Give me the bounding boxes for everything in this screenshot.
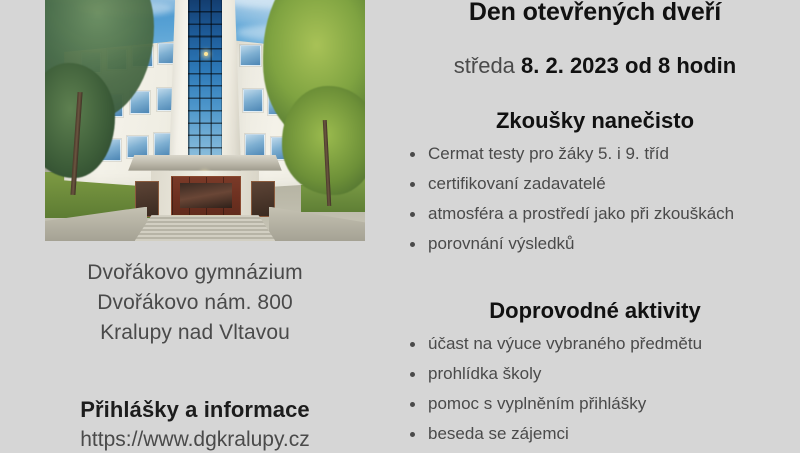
list-item: prohlídka školy (400, 363, 800, 385)
school-address: Dvořákovo gymnázium Dvořákovo nám. 800 K… (0, 258, 390, 347)
event-date-time: 8. 2. 2023 od 8 hodin (521, 53, 736, 78)
school-website-url[interactable]: https://www.dgkralupy.cz (0, 428, 390, 452)
event-datetime: středa 8. 2. 2023 od 8 hodin (390, 53, 800, 79)
mock-exams-list: Cermat testy pro žáky 5. i 9. tříd certi… (390, 143, 800, 263)
right-column: Den otevřených dveří středa 8. 2. 2023 o… (390, 0, 800, 450)
list-item: účast na výuce vybraného předmětu (400, 333, 800, 355)
address-line-city: Kralupy nad Vltavou (0, 318, 390, 348)
window (240, 45, 260, 66)
list-item: Cermat testy pro žáky 5. i 9. tříd (400, 143, 800, 165)
photo-canvas (45, 0, 365, 241)
list-item: beseda se zájemci (400, 423, 800, 445)
list-item: pomoc s vyplněním přihlášky (400, 393, 800, 415)
section-heading-activities: Doprovodné aktivity (390, 298, 800, 324)
tower-glass-curtain-wall (188, 0, 222, 161)
tower-lamp (204, 52, 208, 56)
left-column: Dvořákovo gymnázium Dvořákovo nám. 800 K… (0, 0, 390, 450)
entrance-canopy (128, 155, 282, 171)
page-title: Den otevřených dveří (390, 0, 800, 27)
entrance-steps (135, 215, 276, 241)
door-glass (180, 183, 231, 207)
address-line-school: Dvořákovo gymnázium (0, 258, 390, 288)
event-weekday: středa (454, 53, 521, 78)
address-line-street: Dvořákovo nám. 800 (0, 288, 390, 318)
window (243, 89, 263, 112)
window (245, 134, 265, 157)
applications-heading: Přihlášky a informace (0, 397, 390, 423)
section-heading-mock-exams: Zkoušky nanečisto (390, 108, 800, 134)
activities-list: účast na výuce vybraného předmětu prohlí… (390, 333, 800, 453)
list-item: porovnání výsledků (400, 233, 800, 255)
school-building-photo (45, 0, 365, 241)
list-item: atmosféra a prostředí jako při zkouškách (400, 203, 800, 225)
slide-root: Dvořákovo gymnázium Dvořákovo nám. 800 K… (0, 0, 800, 450)
entrance-door (171, 176, 240, 221)
list-item: certifikovaní zadavatelé (400, 173, 800, 195)
